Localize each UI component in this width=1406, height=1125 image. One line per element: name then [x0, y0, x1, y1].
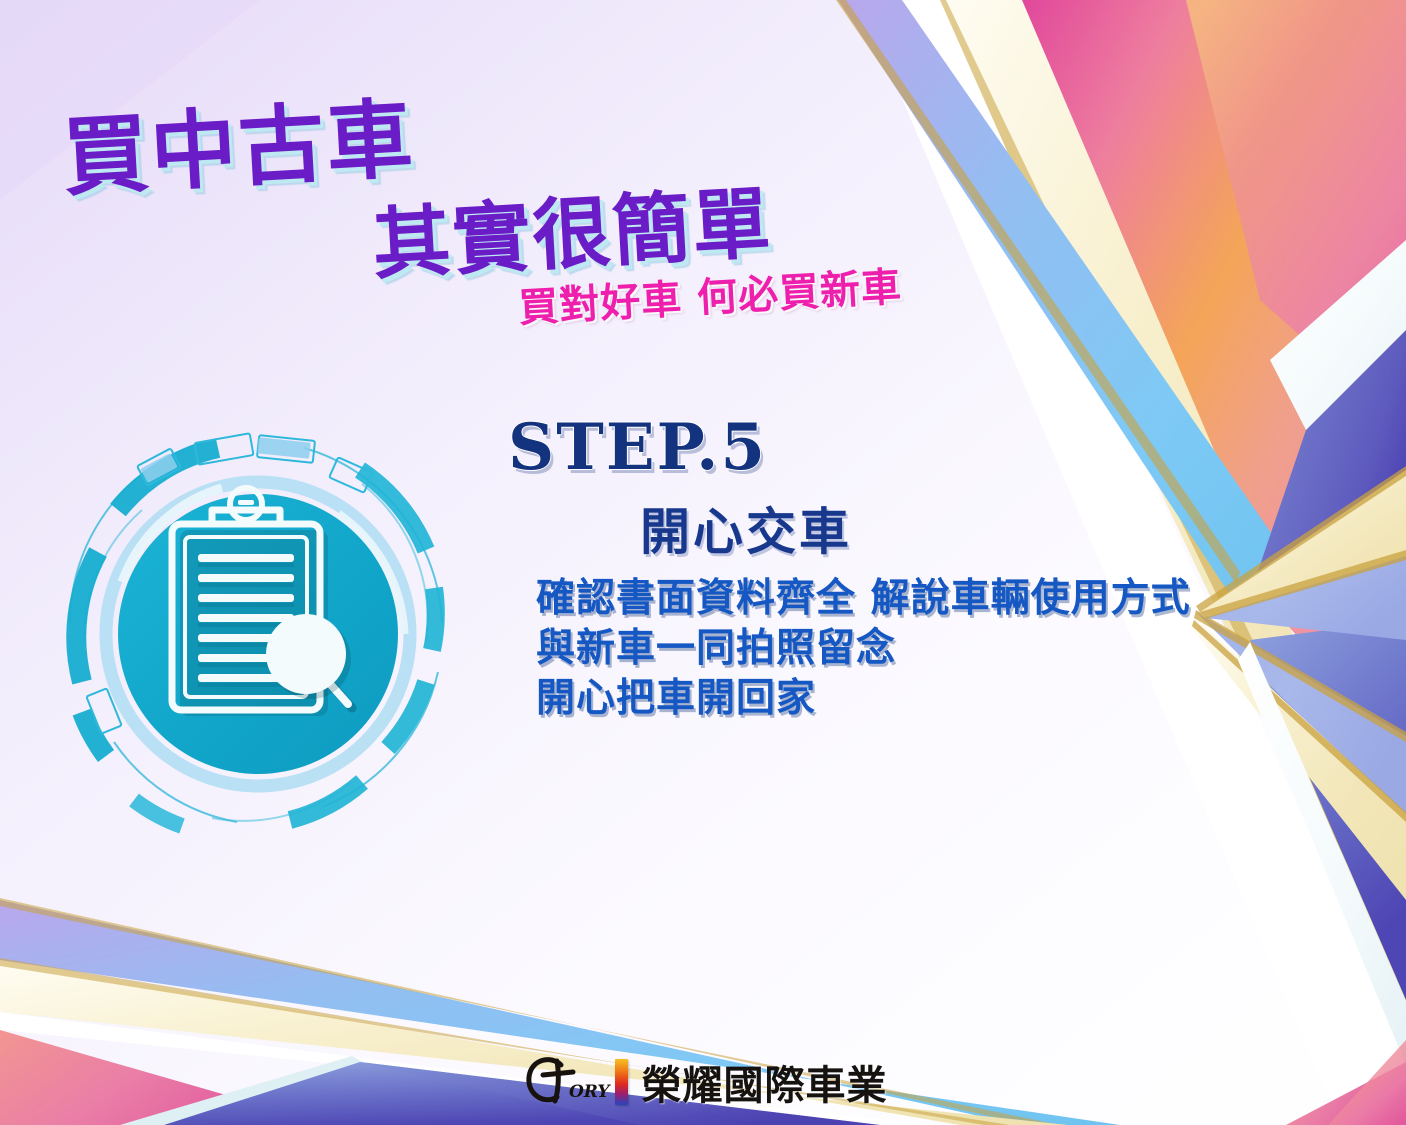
brand-name: 榮耀國際車業	[642, 1053, 888, 1111]
poster-canvas: 買中古車 其實很簡單 買對好車 何必買新車	[0, 0, 1406, 1125]
step-body-line-1: 確認書面資料齊全 解說車輛使用方式	[536, 573, 1236, 623]
step-title: 開心交車	[640, 492, 852, 564]
step-body: 確認書面資料齊全 解說車輛使用方式 與新車一同拍照留念 開心把車開回家	[536, 573, 1236, 723]
footer-brand: ORY 榮耀國際車業	[0, 1045, 1406, 1119]
clipboard-magnifier-icon	[22, 382, 492, 872]
svg-text:ORY: ORY	[569, 1082, 611, 1102]
step-body-line-3: 開心把車開回家	[536, 673, 1236, 723]
brand-divider-bar	[615, 1059, 628, 1105]
glory-logo-icon: ORY	[519, 1051, 611, 1113]
step-body-line-2: 與新車一同拍照留念	[536, 623, 1236, 673]
step-number: STEP.5	[508, 410, 767, 485]
